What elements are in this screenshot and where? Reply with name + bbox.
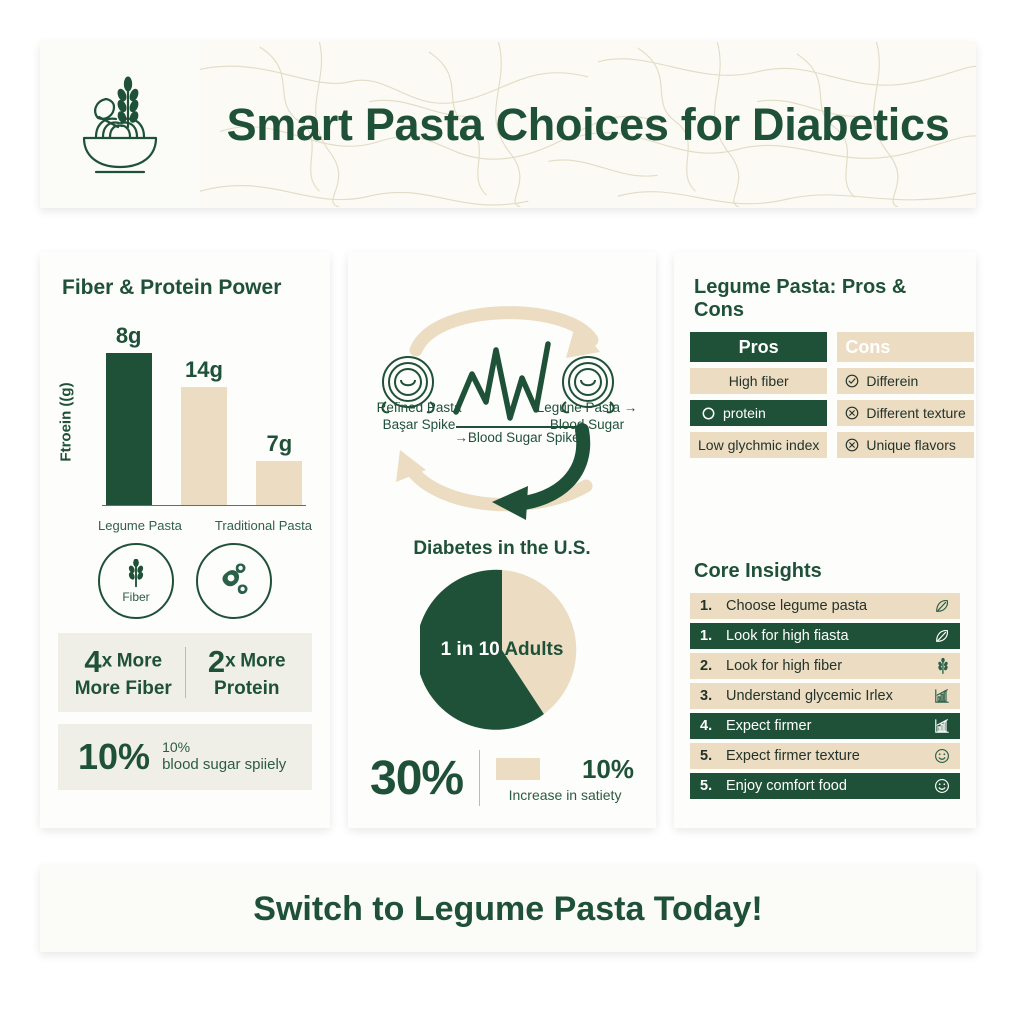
- stat-fiber-sub: More Fiber: [68, 679, 179, 700]
- table-row: High fiber: [690, 368, 827, 394]
- stat-fiber-unit: x: [102, 650, 113, 671]
- pros-row-label-1: protein: [723, 405, 766, 421]
- cycle-label-refined-line2: Başar Spike: [366, 417, 472, 434]
- insight-label-3: Understand glycemic Irlex: [726, 688, 934, 704]
- satiety-swatch-row: 10%: [496, 754, 634, 785]
- table-row: Differein: [837, 368, 973, 394]
- bar-chart-x-labels: Legume Pasta Traditional Pasta: [98, 518, 312, 533]
- table-row: Unique flavors: [837, 432, 973, 458]
- cons-header: Cons: [837, 332, 973, 362]
- stat-protein: 2x More Protein: [192, 645, 303, 700]
- fiber-icon-circle: Fiber: [98, 543, 174, 619]
- bar-group-0: 8g: [102, 317, 155, 505]
- stat-box-satiety: 30% 10% Increase in satiety: [364, 750, 640, 806]
- pros-row-label-2: Low glychmic index: [698, 437, 819, 453]
- wheat-icon: [123, 559, 149, 594]
- leaf-icon: [934, 628, 950, 644]
- list-item: 4. Expect firmer: [690, 713, 960, 739]
- header-icon-container: [40, 42, 200, 208]
- bar-chart: Ftroein ((g) 8g 14g 7g: [58, 310, 312, 535]
- insight-label-1: Look for high fiasta: [726, 628, 934, 644]
- wheat-icon: [936, 658, 950, 675]
- stat-box-multipliers: 4x More More Fiber 2x More Protein: [58, 633, 312, 712]
- cycle-label-refined: Refined Pasta Başar Spike: [366, 400, 472, 434]
- leaf-icon: [934, 598, 950, 614]
- satiety-big-number: 30%: [370, 751, 463, 806]
- card-pros-cons-insights: Legume Pasta: Pros & Cons Pros High fibe…: [674, 252, 976, 828]
- table-bar: [106, 353, 152, 505]
- stat-protein-number: 2: [208, 644, 225, 679]
- table-bar: [181, 387, 227, 505]
- satiety-divider: [479, 750, 480, 806]
- satiety-caption: Increase in satiety: [496, 787, 634, 803]
- pros-row-label-0: High fiber: [729, 373, 789, 389]
- stat-protein-sub: Protein: [192, 679, 303, 700]
- insight-label-5: Expect firmer texture: [726, 748, 934, 764]
- stat-protein-unit: x: [225, 650, 236, 671]
- card-fiber-protein: Fiber & Protein Power Ftroein ((g) 8g 14…: [40, 252, 330, 828]
- stat-fiber-word: More: [117, 650, 162, 671]
- bar-chart-title: Fiber & Protein Power: [62, 276, 312, 300]
- list-item: 1. Look for high fiasta: [690, 623, 960, 649]
- list-item: 5. Enjoy comfort food: [690, 773, 960, 799]
- bar-chart-icon: [934, 688, 950, 704]
- pie-label-part1: 1 in 10: [441, 639, 500, 660]
- stat-divider: [185, 647, 186, 698]
- insight-label-6: Enjoy comfort food: [726, 778, 934, 794]
- x-circle-icon: [845, 406, 859, 420]
- insight-number-2: 2.: [700, 658, 726, 674]
- footer-cta-text: Switch to Legume Pasta Today!: [253, 890, 762, 929]
- bar-value-1: 14g: [185, 357, 223, 383]
- smiley-icon: [934, 778, 950, 794]
- legume-icon-circle: [196, 543, 272, 619]
- pie-chart: 1 in 10 Adults: [420, 568, 584, 732]
- core-insights-list: 1. Choose legume pasta 1. Look for high …: [690, 593, 960, 799]
- circle-icon: [702, 407, 715, 420]
- satiety-color-swatch: [496, 758, 540, 780]
- header-title-container: Smart Pasta Choices for Diabetics: [200, 42, 976, 208]
- cycle-label-legume-line2: Blood Sugar: [534, 417, 640, 434]
- bar-group-1: 14g: [177, 317, 230, 505]
- bar-value-2: 7g: [266, 431, 292, 457]
- blood-sugar-pct: 10%: [162, 739, 286, 757]
- columns-container: Fiber & Protein Power Ftroein ((g) 8g 14…: [40, 252, 976, 828]
- cycle-label-refined-line1: Refined Pasta: [366, 400, 472, 417]
- cycle-diagram: →Blood Sugar Spike Refined Pasta Başar S…: [364, 278, 640, 530]
- cycle-label-legume: Legune Pasta → Blood Sugar: [534, 400, 640, 434]
- list-item: 1. Choose legume pasta: [690, 593, 960, 619]
- cons-column: Cons Differein: [837, 332, 973, 464]
- insight-number-0: 1.: [700, 598, 726, 614]
- pros-cons-title: Legume Pasta: Pros & Cons: [694, 276, 960, 322]
- insight-number-6: 5.: [700, 778, 726, 794]
- table-row: Different texture: [837, 400, 973, 426]
- pasta-bowl-wheat-icon: [72, 71, 168, 180]
- table-row: Low glychmic index: [690, 432, 827, 458]
- insight-label-0: Choose legume pasta: [726, 598, 934, 614]
- stat-fiber: 4x More More Fiber: [68, 645, 179, 700]
- insight-label-2: Look for high fiber: [726, 658, 936, 674]
- legume-beans-icon: [212, 559, 256, 608]
- pros-column: Pros High fiber protein Low glychmic ind…: [690, 332, 827, 464]
- infographic-page: Smart Pasta Choices for Diabetics Fiber …: [0, 0, 1024, 1024]
- bar-chart-xtick-0: Legume Pasta: [98, 518, 182, 533]
- page-title: Smart Pasta Choices for Diabetics: [227, 99, 950, 151]
- list-item: 2. Look for high fiber: [690, 653, 960, 679]
- insight-label-4: Expect firmer: [726, 718, 934, 734]
- cons-row-label-0: Differein: [866, 373, 918, 389]
- bar-chart-bars: 8g 14g 7g: [102, 317, 306, 505]
- stat-box-blood-sugar: 10% 10% blood sugar spiiely: [58, 724, 312, 790]
- core-insights-title: Core Insights: [694, 560, 960, 583]
- feature-icon-circles: Fiber: [58, 543, 312, 619]
- blood-sugar-big-number: 10%: [68, 736, 162, 778]
- smiley-icon: [934, 748, 950, 764]
- pros-cons-table: Pros High fiber protein Low glychmic ind…: [690, 332, 960, 464]
- table-row: protein: [690, 400, 827, 426]
- blood-sugar-text: 10% blood sugar spiiely: [162, 739, 286, 775]
- x-circle-icon: [845, 438, 859, 452]
- insight-number-1: 1.: [700, 628, 726, 644]
- bar-chart-xtick-1: Traditional Pasta: [215, 518, 312, 533]
- cons-row-label-2: Unique flavors: [866, 437, 956, 453]
- cons-row-label-1: Different texture: [866, 405, 965, 421]
- card-blood-sugar-cycle: →Blood Sugar Spike Refined Pasta Başar S…: [348, 252, 656, 828]
- bar-chart-icon: [934, 718, 950, 734]
- list-item: 3. Understand glycemic Irlex: [690, 683, 960, 709]
- stat-protein-word: More: [240, 650, 285, 671]
- footer-cta-banner: Switch to Legume Pasta Today!: [40, 866, 976, 952]
- satiety-percent: 10%: [582, 754, 634, 785]
- pie-label-part2: Adults: [504, 639, 563, 660]
- pie-chart-title: Diabetes in the U.S.: [364, 538, 640, 560]
- fiber-icon-caption: Fiber: [122, 590, 149, 604]
- insight-number-5: 5.: [700, 748, 726, 764]
- bar-group-2: 7g: [253, 317, 306, 505]
- bar-value-0: 8g: [116, 323, 142, 349]
- satiety-right: 10% Increase in satiety: [496, 754, 634, 803]
- blood-sugar-caption: blood sugar spiiely: [162, 756, 286, 775]
- table-bar: [256, 461, 302, 505]
- header-banner: Smart Pasta Choices for Diabetics: [40, 42, 976, 208]
- bar-chart-y-axis-label: Ftroein ((g): [58, 382, 75, 461]
- insight-number-4: 4.: [700, 718, 726, 734]
- cycle-label-legume-line1: Legune Pasta →: [534, 400, 640, 417]
- pros-header: Pros: [690, 332, 827, 362]
- insight-number-3: 3.: [700, 688, 726, 704]
- pie-center-label: 1 in 10 Adults: [420, 639, 584, 661]
- stat-fiber-number: 4: [84, 644, 101, 679]
- list-item: 5. Expect firmer texture: [690, 743, 960, 769]
- check-circle-icon: [845, 374, 859, 388]
- bar-chart-axis-line: [102, 505, 306, 507]
